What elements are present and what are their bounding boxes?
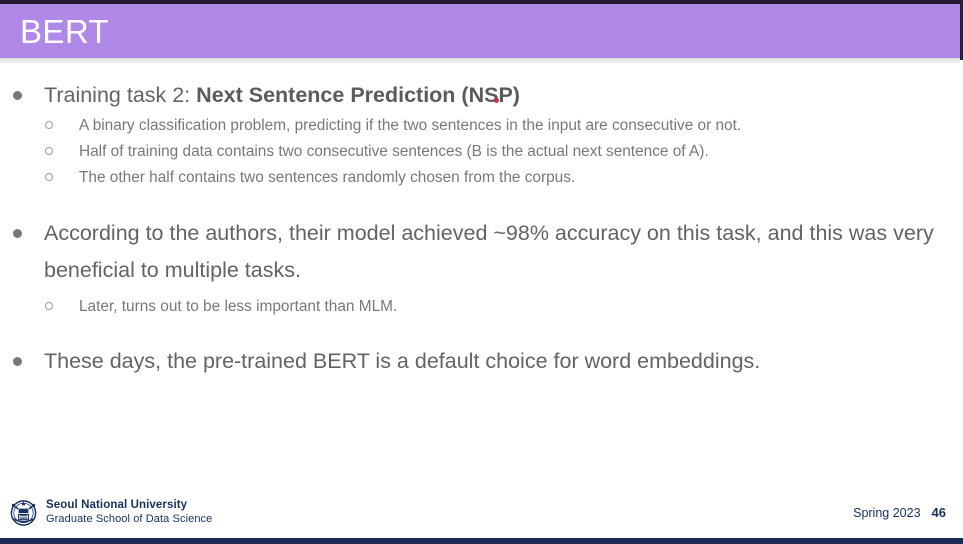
footer-page-number: 46 [932, 505, 946, 520]
footer-term: Spring 2023 [853, 506, 920, 520]
sub-bullet-circle-icon [45, 302, 53, 310]
bullet-2-text: According to the authors, their model ac… [44, 221, 934, 282]
sub-bullet-2-1-text: Later, turns out to be less important th… [79, 298, 397, 315]
sub-bullet-circle-icon [45, 147, 53, 155]
spacer-1 [0, 191, 963, 215]
slide-footer: Seoul National University Graduate Schoo… [0, 492, 963, 544]
bullet-item-1: Training task 2: Next Sentence Predictio… [0, 80, 963, 111]
footer-university-name: Seoul National University [46, 499, 212, 513]
slide-title-band: BERT [0, 4, 960, 58]
bullet-dot-icon [13, 91, 22, 100]
bullet-item-3: These days, the pre-trained BERT is a de… [0, 346, 963, 377]
sub-bullet-1-2: Half of training data contains two conse… [31, 139, 963, 165]
bullet-list-level1: Training task 2: Next Sentence Predictio… [0, 80, 963, 377]
bullet-dot-icon [13, 357, 22, 366]
footer-meta: Spring 2023 46 [853, 505, 946, 520]
bullet-list-level2-group-2: Later, turns out to be less important th… [0, 294, 963, 320]
snu-crest-icon [8, 497, 39, 528]
sub-bullet-1-2-text: Half of training data contains two conse… [79, 143, 709, 160]
footer-accent-bar [0, 538, 963, 544]
sub-bullet-1-3: The other half contains two sentences ra… [31, 165, 963, 191]
presentation-slide: BERT Training task 2: Next Sentence Pred… [0, 0, 963, 544]
sub-bullet-1-1: A binary classification problem, predict… [31, 113, 963, 139]
sub-bullet-2-1: Later, turns out to be less important th… [31, 294, 963, 320]
bullet-1-text-bold: Next Sentence Prediction (NSP) [196, 83, 520, 107]
cursor-dot-artifact [494, 98, 499, 103]
bullet-1-text-normal: Training task 2: [44, 83, 196, 107]
footer-brand: Seoul National University Graduate Schoo… [8, 497, 212, 528]
sub-bullet-circle-icon [45, 121, 53, 129]
bullet-item-2: According to the authors, their model ac… [0, 215, 963, 289]
sub-bullet-1-1-text: A binary classification problem, predict… [79, 117, 741, 134]
sub-bullet-1-3-text: The other half contains two sentences ra… [79, 169, 575, 186]
bullet-list-level2-group-1: A binary classification problem, predict… [0, 113, 963, 191]
spacer-2 [0, 320, 963, 346]
footer-brand-text: Seoul National University Graduate Schoo… [46, 499, 212, 526]
sub-bullet-circle-icon [45, 173, 53, 181]
slide-body: Training task 2: Next Sentence Predictio… [0, 63, 963, 493]
footer-school-name: Graduate School of Data Science [46, 513, 212, 526]
bullet-3-text: These days, the pre-trained BERT is a de… [44, 349, 760, 373]
bullet-dot-icon [13, 229, 22, 238]
page-title: BERT [20, 15, 109, 48]
